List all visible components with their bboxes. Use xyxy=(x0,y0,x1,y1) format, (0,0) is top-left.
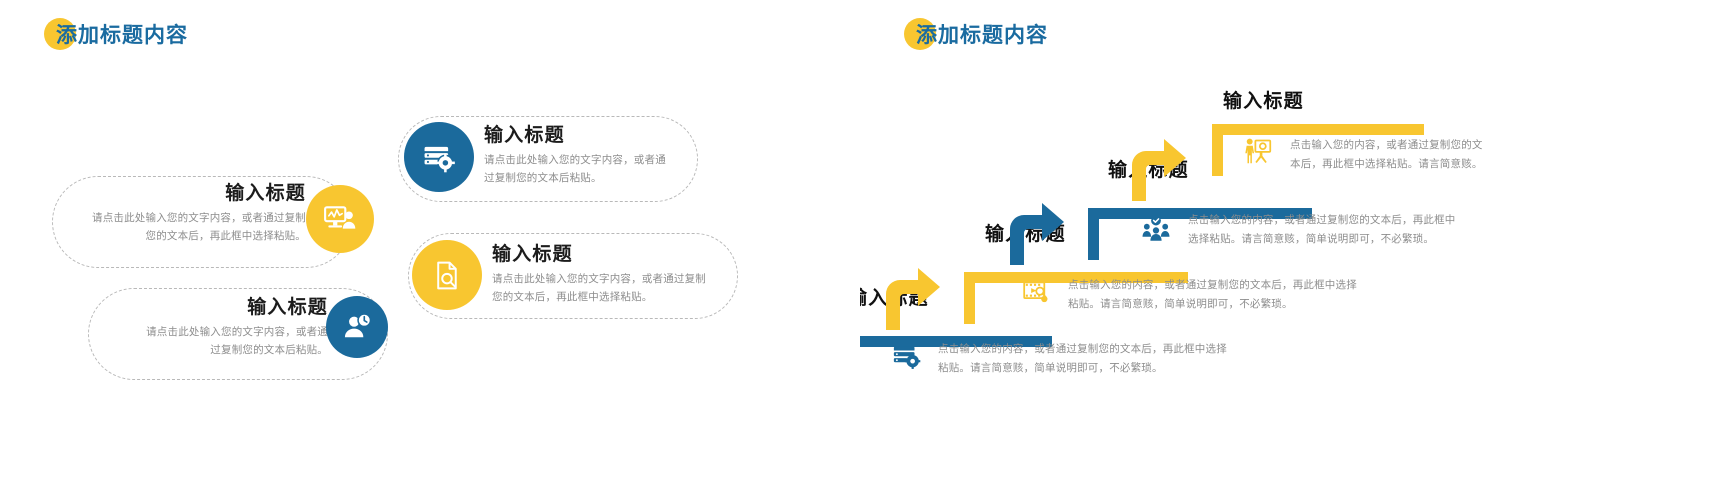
step-desc-2: 点击输入您的内容，或者通过复制您的文本后，再此框中选择 粘贴。请言简意赅，简单说… xyxy=(1068,276,1357,315)
item-body-line-2: 过复制您的文本后粘贴。 xyxy=(96,341,328,359)
step-desc-line-1: 点击输入您的内容，或者通过复制您的文 xyxy=(1290,136,1483,155)
icon-circle-left-2[interactable] xyxy=(326,296,388,358)
step-icon-2 xyxy=(1022,278,1050,311)
step-desc-line-2: 本后，再此框中选择粘贴。请言简意赅。 xyxy=(1290,155,1483,174)
item-body-line-2: 您的文本后，再此框中选择粘贴。 xyxy=(46,227,306,245)
server-gear-icon xyxy=(892,358,922,375)
step-desc-line-1: 点击输入您的内容，或者通过复制您的文本后，再此框中 xyxy=(1188,211,1456,230)
item-body-line-2: 过复制您的文本后粘贴。 xyxy=(484,169,696,187)
document-search-icon xyxy=(431,259,464,292)
icon-circle-right-1[interactable] xyxy=(404,122,474,192)
item-heading: 输入标题 xyxy=(484,124,696,148)
person-clock-icon xyxy=(342,312,373,343)
slide-right: 添加标题内容 输入标题 点击输入您的内容 xyxy=(860,0,1720,490)
step-desc-line-2: 选择粘贴。请言简意赅，简单说明即可，不必繁琐。 xyxy=(1188,230,1456,249)
step-arrow-3 xyxy=(1128,139,1186,206)
step-desc-3: 点击输入您的内容，或者通过复制您的文本后，再此框中 选择粘贴。请言简意赅，简单说… xyxy=(1188,211,1456,250)
step-desc-1: 点击输入您的内容，或者通过复制您的文本后，再此框中选择 粘贴。请言简意赅，简单说… xyxy=(938,340,1227,379)
step-desc-line-1: 点击输入您的内容，或者通过复制您的文本后，再此框中选择 xyxy=(938,340,1227,359)
step-icon-3 xyxy=(1142,214,1170,247)
text-block-left-2: 输入标题 请点击此处输入您的文字内容，或者通 过复制您的文本后粘贴。 xyxy=(96,296,328,360)
page-title: 添加标题内容 xyxy=(904,14,1048,54)
text-block-left-1: 输入标题 请点击此处输入您的文字内容，或者通过复制 您的文本后，再此框中选择粘贴… xyxy=(46,182,306,246)
item-body-line-2: 您的文本后，再此框中选择粘贴。 xyxy=(492,288,738,306)
icon-circle-right-2[interactable] xyxy=(412,240,482,310)
text-block-right-1: 输入标题 请点击此处输入您的文字内容，或者通 过复制您的文本后粘贴。 xyxy=(484,124,696,188)
step-arrow-2 xyxy=(1006,203,1064,270)
step-icon-4 xyxy=(1244,137,1272,170)
item-body-line-1: 请点击此处输入您的文字内容，或者通 xyxy=(96,323,328,341)
team-check-icon xyxy=(1142,229,1170,246)
item-heading: 输入标题 xyxy=(96,296,328,320)
page-title-text: 添加标题内容 xyxy=(904,19,1048,49)
step-desc-line-1: 点击输入您的内容，或者通过复制您的文本后，再此框中选择 xyxy=(1068,276,1357,295)
step-title-4: 输入标题 xyxy=(1223,86,1304,113)
item-body-line-1: 请点击此处输入您的文字内容，或者通过复制 xyxy=(46,209,306,227)
item-heading: 输入标题 xyxy=(492,243,738,267)
item-body-line-1: 请点击此处输入您的文字内容，或者通 xyxy=(484,151,696,169)
item-heading: 输入标题 xyxy=(46,182,306,206)
step-desc-line-2: 粘贴。请言简意赅，简单说明即可，不必繁琐。 xyxy=(1068,295,1357,314)
slides-stage: 添加标题内容 输入标题 请点击此处输入您的文字内容，或者通过复制 您的文本后，再… xyxy=(0,0,1720,490)
presenter-board-icon xyxy=(1244,152,1272,169)
page-title-text: 添加标题内容 xyxy=(44,19,188,49)
step-desc-4: 点击输入您的内容，或者通过复制您的文 本后，再此框中选择粘贴。请言简意赅。 xyxy=(1290,136,1483,175)
server-gear-icon xyxy=(422,140,456,174)
step-icon-1 xyxy=(892,341,922,376)
page-title: 添加标题内容 xyxy=(44,14,188,54)
icon-circle-left-1[interactable] xyxy=(306,185,374,253)
text-block-right-2: 输入标题 请点击此处输入您的文字内容，或者通过复制 您的文本后，再此框中选择粘贴… xyxy=(492,243,738,307)
video-search-icon xyxy=(1022,293,1050,310)
item-body-line-1: 请点击此处输入您的文字内容，或者通过复制 xyxy=(492,270,738,288)
step-desc-line-2: 粘贴。请言简意赅，简单说明即可，不必繁琐。 xyxy=(938,359,1227,378)
presentation-chart-person-icon xyxy=(323,202,357,236)
slide-left: 添加标题内容 输入标题 请点击此处输入您的文字内容，或者通过复制 您的文本后，再… xyxy=(0,0,860,490)
step-arrow-1 xyxy=(882,268,940,335)
